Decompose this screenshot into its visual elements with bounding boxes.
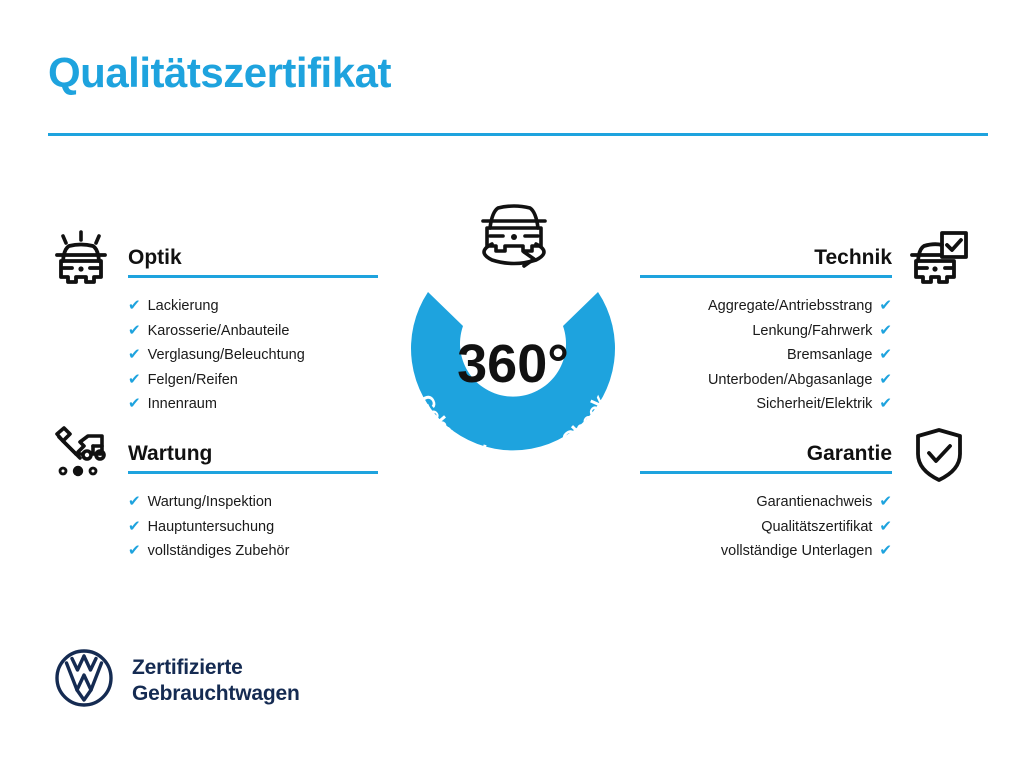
car-front-checkbox-icon: [908, 228, 970, 295]
section-title: Technik: [814, 246, 892, 270]
list-item: ✔Felgen/Reifen: [128, 368, 378, 393]
check-icon: ✔: [128, 490, 141, 514]
list-item-label: Aggregate/Antriebsstrang: [708, 295, 872, 319]
list-item-label: vollständige Unterlagen: [721, 540, 873, 564]
list-item: ✔Karosserie/Anbauteile: [128, 319, 378, 344]
footer-brand-text: Zertifizierte Gebrauchtwagen: [132, 655, 300, 706]
car-rotate-360-icon: [466, 200, 562, 272]
footer-line-1: Zertifizierte: [132, 655, 300, 681]
section-underline: [128, 275, 378, 278]
check-icon: ✔: [879, 319, 892, 343]
vw-logo-icon: [54, 648, 114, 713]
list-item: ✔Lackierung: [128, 294, 378, 319]
section-title: Garantie: [807, 442, 892, 466]
check-icon: ✔: [128, 392, 141, 416]
list-item: Bremsanlage✔: [640, 343, 892, 368]
list-item: Lenkung/Fahrwerk✔: [640, 319, 892, 344]
list-item: ✔Verglasung/Beleuchtung: [128, 343, 378, 368]
car-front-shine-icon: [50, 228, 112, 295]
list-item-label: Bremsanlage: [787, 344, 872, 368]
checklist-wartung: ✔Wartung/Inspektion ✔Hauptuntersuchung ✔…: [128, 490, 378, 564]
section-underline: [640, 471, 892, 474]
check-icon: ✔: [128, 539, 141, 563]
check-icon: ✔: [128, 343, 141, 367]
check-icon: ✔: [128, 294, 141, 318]
section-technik: Technik Aggregate/Antriebsstrang✔ Lenkun…: [640, 232, 892, 417]
section-garantie: Garantie Garantienachweis✔ Qualitätszert…: [640, 428, 892, 564]
list-item: vollständige Unterlagen✔: [640, 539, 892, 564]
check-icon: ✔: [128, 515, 141, 539]
checklist-garantie: Garantienachweis✔ Qualitätszertifikat✔ v…: [640, 490, 892, 564]
list-item-label: Felgen/Reifen: [148, 369, 238, 393]
checklist-technik: Aggregate/Antriebsstrang✔ Lenkung/Fahrwe…: [640, 294, 892, 417]
list-item: ✔vollständiges Zubehör: [128, 539, 378, 564]
list-item: Qualitätszertifikat✔: [640, 515, 892, 540]
list-item-label: Wartung/Inspektion: [148, 491, 272, 515]
section-underline: [128, 471, 378, 474]
list-item-label: Qualitätszertifikat: [761, 516, 872, 540]
list-item-label: Unterboden/Abgasanlage: [708, 369, 872, 393]
list-item-label: Lenkung/Fahrwerk: [752, 320, 872, 344]
list-item-label: Innenraum: [148, 393, 217, 417]
section-title: Optik: [128, 246, 182, 270]
section-optik: Optik ✔Lackierung ✔Karosserie/Anbauteile…: [128, 232, 378, 417]
footer-brand: Zertifizierte Gebrauchtwagen: [54, 648, 300, 713]
checklist-optik: ✔Lackierung ✔Karosserie/Anbauteile ✔Verg…: [128, 294, 378, 417]
check-icon: ✔: [128, 368, 141, 392]
list-item-label: Garantienachweis: [756, 491, 872, 515]
check-icon: ✔: [128, 319, 141, 343]
section-wartung: Wartung ✔Wartung/Inspektion ✔Hauptunters…: [128, 428, 378, 564]
check-icon: ✔: [879, 539, 892, 563]
page-title: Qualitätszertifikat: [48, 50, 391, 96]
list-item-label: Lackierung: [148, 295, 219, 319]
badge-center-label: 360°: [457, 334, 569, 394]
list-item: ✔Innenraum: [128, 392, 378, 417]
badge-360-gebrauchtwagen-check: 360° Gebrauchtwagen-Check: [378, 248, 648, 478]
check-icon: ✔: [879, 392, 892, 416]
certificate-page: Qualitätszertifikat Op: [0, 0, 1024, 768]
list-item: ✔Hauptuntersuchung: [128, 515, 378, 540]
list-item: Sicherheit/Elektrik✔: [640, 392, 892, 417]
section-underline: [640, 275, 892, 278]
list-item-label: vollständiges Zubehör: [148, 540, 290, 564]
list-item: Garantienachweis✔: [640, 490, 892, 515]
list-item: Unterboden/Abgasanlage✔: [640, 368, 892, 393]
check-icon: ✔: [879, 515, 892, 539]
shield-check-icon: [908, 424, 970, 491]
list-item-label: Sicherheit/Elektrik: [756, 393, 872, 417]
check-icon: ✔: [879, 368, 892, 392]
car-service-tool-icon: [50, 424, 112, 491]
check-icon: ✔: [879, 343, 892, 367]
header-divider: [48, 133, 988, 136]
section-title: Wartung: [128, 442, 212, 466]
list-item-label: Karosserie/Anbauteile: [148, 320, 290, 344]
check-icon: ✔: [879, 490, 892, 514]
list-item: Aggregate/Antriebsstrang✔: [640, 294, 892, 319]
check-icon: ✔: [879, 294, 892, 318]
footer-line-2: Gebrauchtwagen: [132, 681, 300, 707]
list-item: ✔Wartung/Inspektion: [128, 490, 378, 515]
list-item-label: Hauptuntersuchung: [148, 516, 275, 540]
list-item-label: Verglasung/Beleuchtung: [148, 344, 305, 368]
